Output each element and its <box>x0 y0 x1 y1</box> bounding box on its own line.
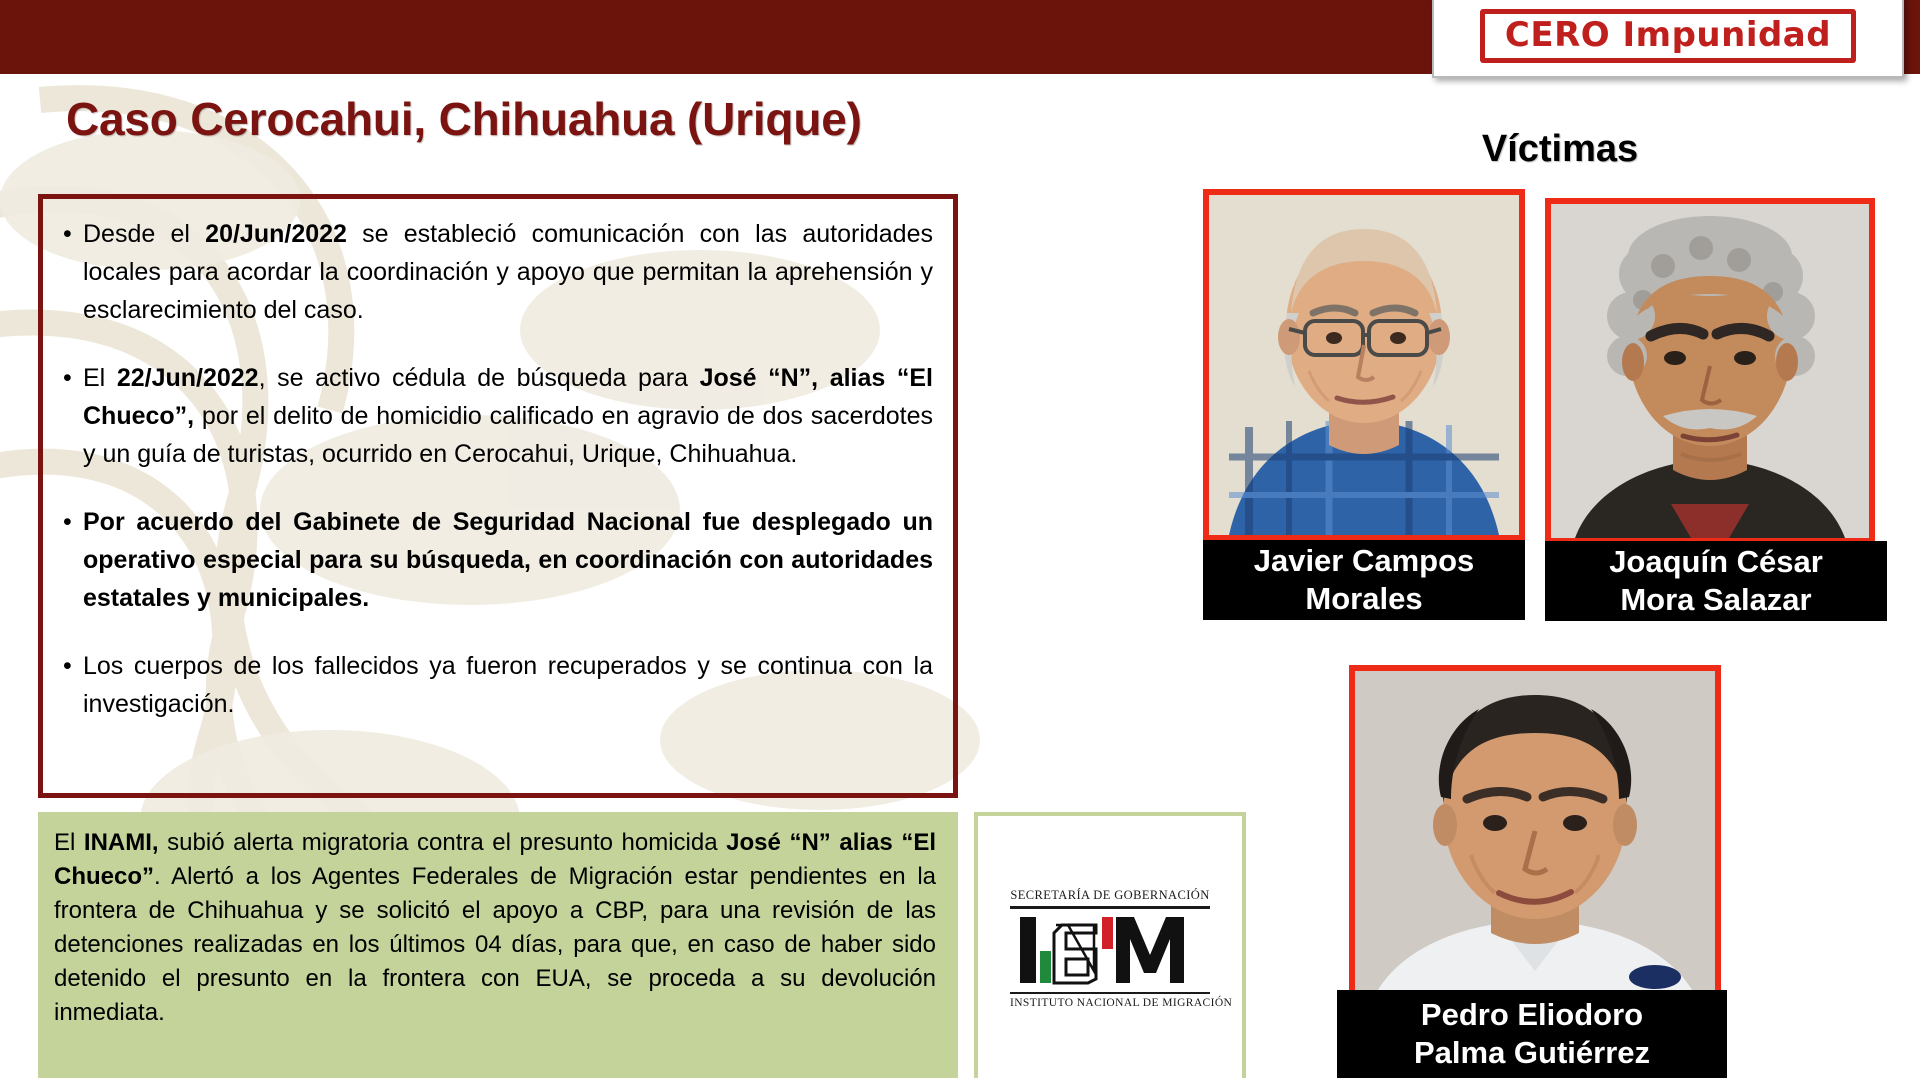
bullet-marker-icon: • <box>57 647 83 685</box>
victim-name-line: Palma Gutiérrez <box>1414 1034 1650 1072</box>
victim-name-line: Joaquín César <box>1609 543 1823 581</box>
victim-name-plate: Joaquín César Mora Salazar <box>1545 541 1887 621</box>
victim-photo <box>1551 204 1869 538</box>
victim-photo <box>1209 195 1519 535</box>
victim-photo-frame <box>1349 665 1721 1005</box>
victims-heading: Víctimas <box>1440 128 1680 171</box>
divider <box>1010 992 1210 994</box>
victim-name-line: Mora Salazar <box>1620 581 1811 619</box>
main-content-box: • Desde el 20/Jun/2022 se estableció com… <box>38 194 958 798</box>
bullet-marker-icon: • <box>57 359 83 397</box>
bullet-item: • Desde el 20/Jun/2022 se estableció com… <box>57 215 933 329</box>
bullet-item: • Por acuerdo del Gabinete de Seguridad … <box>57 503 933 617</box>
victim-photo-frame <box>1545 198 1875 544</box>
divider <box>1010 906 1210 909</box>
victim-name-plate: Javier Campos Morales <box>1203 540 1525 620</box>
victim-name-line: Pedro Eliodoro <box>1421 996 1643 1034</box>
bullet-marker-icon: • <box>57 503 83 541</box>
inami-note-text: El INAMI, subió alerta migratoria contra… <box>54 826 936 1030</box>
inm-monogram-icon <box>1010 913 1210 987</box>
bullet-item: • Los cuerpos de los fallecidos ya fuero… <box>57 647 933 723</box>
cero-impunidad-stamp: CERO Impunidad <box>1432 0 1904 78</box>
slide-root: CERO Impunidad Caso Cerocahui, Chihuahua… <box>0 0 1920 1078</box>
inm-logo-top-text: SECRETARÍA DE GOBERNACIÓN <box>1010 888 1210 903</box>
inami-note-box: El INAMI, subió alerta migratoria contra… <box>38 812 958 1078</box>
bullet-text: Desde el 20/Jun/2022 se estableció comun… <box>83 215 933 329</box>
victim-name-plate: Pedro Eliodoro Palma Gutiérrez <box>1337 990 1727 1078</box>
inm-logo-bottom-text: INSTITUTO NACIONAL DE MIGRACIÓN <box>1010 997 1210 1009</box>
stamp-label: CERO Impunidad <box>1505 18 1831 52</box>
victim-photo <box>1355 671 1715 999</box>
victim-name-line: Javier Campos <box>1254 542 1475 580</box>
stamp-border: CERO Impunidad <box>1480 9 1856 63</box>
bullet-text: Los cuerpos de los fallecidos ya fueron … <box>83 647 933 723</box>
inm-logo-card: SECRETARÍA DE GOBERNACIÓN I <box>974 812 1246 1078</box>
victim-name-line: Morales <box>1305 580 1422 618</box>
inm-logo: SECRETARÍA DE GOBERNACIÓN I <box>1010 888 1210 1009</box>
bullet-text: Por acuerdo del Gabinete de Seguridad Na… <box>83 503 933 617</box>
victim-photo-frame <box>1203 189 1525 541</box>
bullet-marker-icon: • <box>57 215 83 253</box>
bullet-text: El 22/Jun/2022, se activo cédula de búsq… <box>83 359 933 473</box>
bullet-item: • El 22/Jun/2022, se activo cédula de bú… <box>57 359 933 473</box>
page-title: Caso Cerocahui, Chihuahua (Urique) <box>66 92 862 146</box>
